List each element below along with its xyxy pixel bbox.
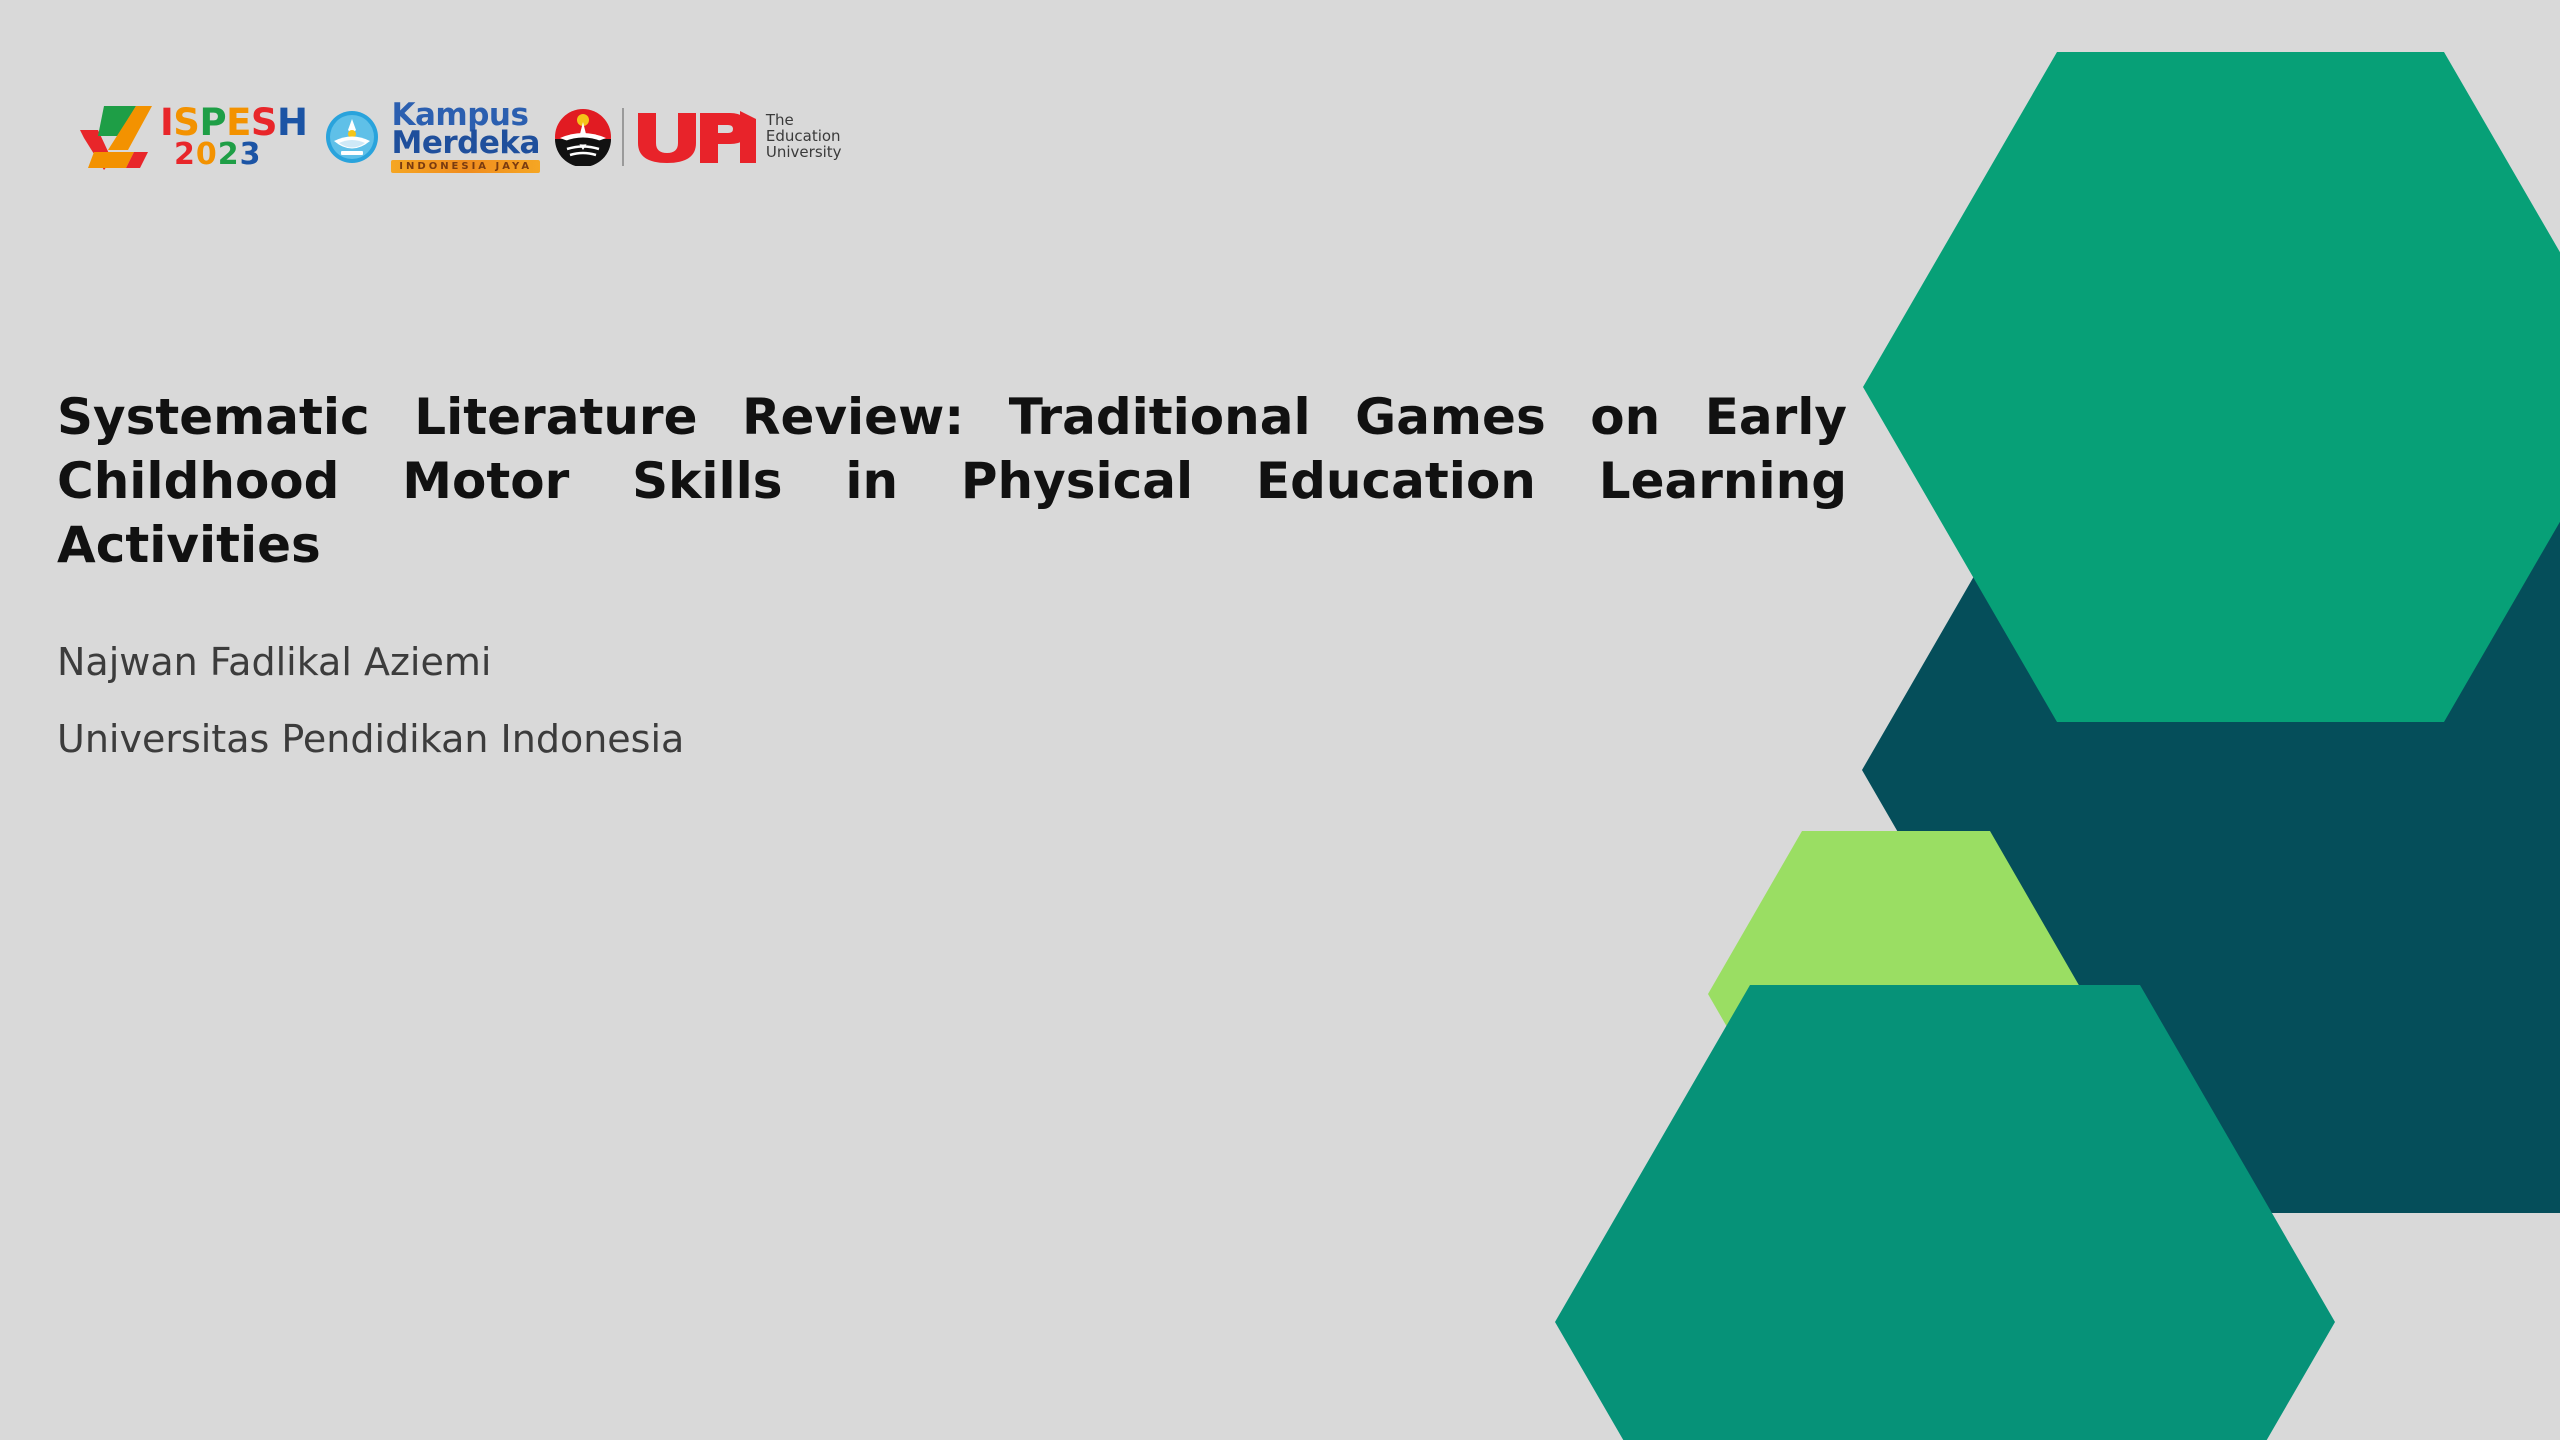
ispesh-swoosh-icon <box>78 102 156 172</box>
hex-dark-teal-shape <box>1862 327 2560 1213</box>
upi-logo: The Education University <box>554 108 842 166</box>
upi-tagline: The Education University <box>766 113 842 161</box>
logo-bar: ISPESH 2023 Kampus Merdeka INDONESIA JAY… <box>78 98 842 176</box>
ispesh-year: 2023 <box>174 141 307 168</box>
hex-teal-bottom-shape <box>1555 985 2335 1440</box>
upi-tagline-line3: University <box>766 145 842 161</box>
upi-wordmark-icon <box>634 109 758 165</box>
upi-emblem-icon <box>554 108 612 166</box>
kampus-merdeka-line2: Merdeka <box>391 129 539 158</box>
ispesh-year-digit: 0 <box>196 137 218 172</box>
kemdikbud-logo-icon <box>325 110 379 164</box>
ispesh-letter: S <box>251 106 277 139</box>
hex-teal-top-shape <box>1863 52 2560 722</box>
ispesh-letter: I <box>160 106 173 139</box>
ispesh-year-digit: 2 <box>174 137 196 172</box>
ispesh-year-digit: 2 <box>218 137 240 172</box>
author-block: Najwan Fadlikal Aziemi Universitas Pendi… <box>57 635 684 767</box>
upi-divider <box>622 108 624 166</box>
ispesh-logo: ISPESH 2023 <box>78 98 307 176</box>
ispesh-letter: P <box>199 106 226 139</box>
ispesh-letter: H <box>277 106 307 139</box>
author-affiliation: Universitas Pendidikan Indonesia <box>57 712 684 767</box>
ispesh-letter: E <box>226 106 251 139</box>
ispesh-letter: S <box>173 106 199 139</box>
kampus-merdeka-logo: Kampus Merdeka INDONESIA JAYA <box>391 101 539 173</box>
ispesh-wordmark: ISPESH <box>160 106 307 139</box>
author-name: Najwan Fadlikal Aziemi <box>57 635 684 690</box>
hex-lime-shape <box>1708 831 2084 1157</box>
presentation-slide: ISPESH 2023 Kampus Merdeka INDONESIA JAY… <box>0 0 2560 1440</box>
slide-title: Systematic Literature Review: Traditiona… <box>57 385 1847 641</box>
kampus-merdeka-ribbon: INDONESIA JAYA <box>391 160 539 173</box>
ispesh-year-digit: 3 <box>240 137 262 172</box>
